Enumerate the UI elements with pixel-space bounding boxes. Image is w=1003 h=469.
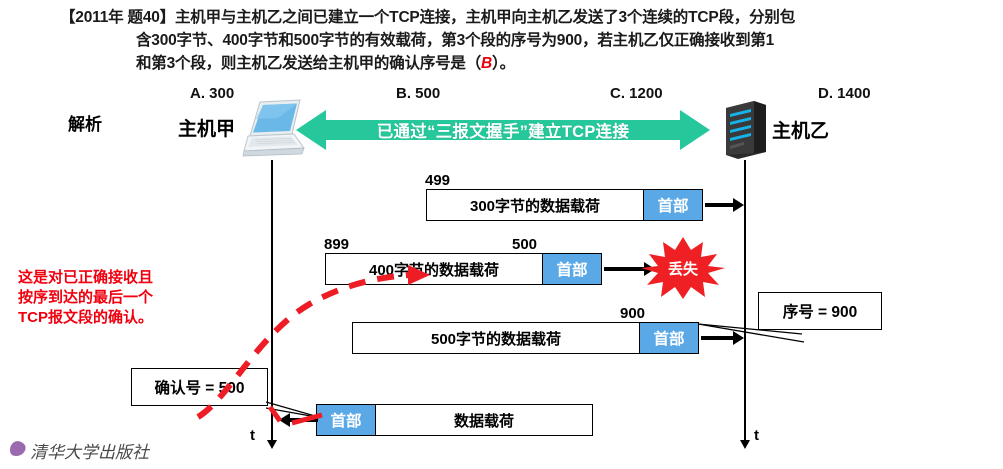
- option-c: C. 1200: [610, 85, 663, 102]
- svg-text:清华大学出版社: 清华大学出版社: [30, 443, 151, 462]
- handshake-banner: 已通过“三报文握手”建立TCP连接: [296, 108, 710, 152]
- segment-1-arrowhead: [733, 198, 744, 212]
- analysis-label: 解析: [68, 110, 102, 135]
- red-dashed-ack-stub: [266, 403, 336, 429]
- segment-1-box: 300字节的数据载荷 首部: [426, 189, 703, 221]
- question-line-3: 和第3个段，则主机乙发送给主机甲的确认序号是（B）。: [136, 51, 515, 73]
- question-line-2: 含300字节、400字节和500字节的有效载荷，第3个段的序号为900，若主机乙…: [136, 28, 774, 50]
- segment-2-seq: 500: [512, 236, 537, 253]
- question-line-3-tail: ）。: [492, 55, 515, 72]
- red-annotation-line-1: 这是对已正确接收且: [18, 268, 153, 288]
- timeline-right-label: t: [754, 427, 759, 444]
- segment-lost-burst: 丢失: [641, 237, 725, 299]
- segment-3-seq: 900: [620, 305, 645, 322]
- publisher-watermark-icon: 清华大学出版社: [6, 436, 206, 469]
- host-right-label: 主机乙: [772, 116, 829, 143]
- segment-2-header: 首部: [542, 254, 601, 284]
- red-annotation: 这是对已正确接收且 按序到达的最后一个 TCP报文段的确认。: [18, 268, 153, 328]
- question-line-3-text: 和第3个段，则主机乙发送给主机甲的确认序号是（: [136, 55, 481, 72]
- handshake-banner-label: 已通过“三报文握手”建立TCP连接: [296, 108, 710, 152]
- segment-lost-label: 丢失: [641, 237, 725, 299]
- server-icon: [720, 100, 768, 165]
- option-b: B. 500: [396, 85, 440, 102]
- red-annotation-line-3: TCP报文段的确认。: [18, 308, 153, 328]
- host-left-label: 主机甲: [178, 114, 235, 141]
- timeline-left-arrowhead: [267, 440, 277, 449]
- timeline-right: [744, 160, 746, 442]
- slide-canvas: 【2011年 题40】主机甲与主机乙之间已建立一个TCP连接，主机甲向主机乙发送…: [0, 0, 1003, 469]
- red-annotation-line-2: 按序到达的最后一个: [18, 288, 153, 308]
- segment-1-payload: 300字节的数据载荷: [427, 190, 643, 220]
- segment-2-arrow: [604, 267, 646, 271]
- segment-1-header: 首部: [643, 190, 702, 220]
- option-d: D. 1400: [818, 85, 871, 102]
- seq-callout: 序号 = 900: [758, 292, 882, 330]
- timeline-left-label: t: [250, 427, 255, 444]
- segment-3-header: 首部: [639, 323, 698, 353]
- question-answer: B: [481, 55, 492, 72]
- option-a: A. 300: [190, 85, 234, 102]
- question-line-1: 【2011年 题40】主机甲与主机乙之间已建立一个TCP连接，主机甲向主机乙发送…: [60, 5, 795, 27]
- timeline-right-arrowhead: [740, 440, 750, 449]
- segment-1-arrow: [705, 203, 735, 207]
- red-dashed-flow-arrow: [180, 185, 440, 425]
